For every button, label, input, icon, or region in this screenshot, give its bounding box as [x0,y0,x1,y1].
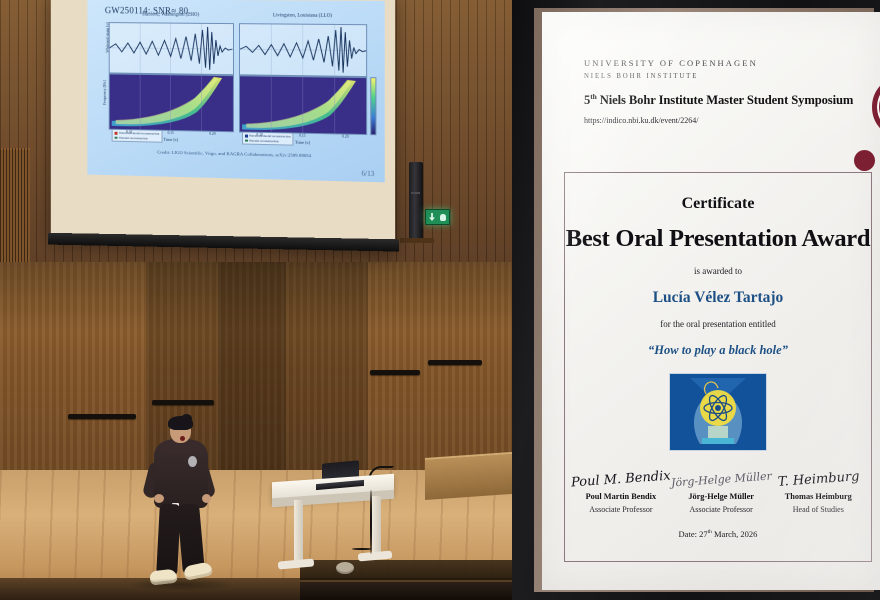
date-rest: March, 2026 [712,529,758,539]
symposium-logo [669,373,767,451]
stage-riser [425,452,512,500]
slide-credit: Credit: LIGO Scientific, Virgo, and KAGR… [87,148,384,160]
front-row-seating [300,560,512,580]
award-title: Best Oral Presentation Award [565,225,871,253]
slide-page-number: 6/13 [362,170,375,178]
projected-slide: GW250114: SNR≈ 80. Hanford, Washington (… [87,0,384,182]
presenter-hand-left [154,494,164,503]
signature-mark: Jörg-Helge Müller [670,466,772,495]
door-push-bar [428,360,482,365]
recipient-name: Lucía Vélez Tartajo [565,289,871,307]
signatory-name: Thomas Heimburg [772,492,865,501]
presenter [140,418,220,593]
power-cable-floor [352,548,372,550]
signatory-role: Associate Professor [571,505,671,514]
picture-frame: UNIVERSITY OF COPENHAGEN NIELS BOHR INST… [512,0,880,600]
detector-panel-llo: Livingston, Louisiana (LLO) LIGO [238,22,367,149]
acoustic-slat-panel-2 [0,150,30,265]
spectrogram-colorbar [370,77,376,135]
presentation-title: “How to play a black hole” [565,343,871,358]
certificate-heading: Certificate [565,195,871,213]
signature-mark: T. Heimburg [771,466,866,494]
signatory-role: Associate Professor [671,505,772,514]
date-prefix: Date: 27 [679,529,708,539]
panel-title: Hanford, Washington (LHO) [109,12,234,18]
signatory-2: Jörg-Helge Müller Jörg-Helge Müller Asso… [671,469,772,514]
wall-speaker [409,162,423,240]
presentation-label: for the oral presentation entitled [565,319,871,329]
door-push-bar [152,400,214,405]
certificate-date: Date: 27th March, 2026 [565,529,871,539]
presenter-logo-badge [188,456,197,467]
signature-mark: Poul M. Bendix [570,466,671,495]
slide-figure: Hanford, Washington (LHO) Whitened strai… [109,21,367,149]
projection-screen: GW250114: SNR≈ 80. Hanford, Washington (… [51,0,395,250]
symposium-title-rest: Niels Bohr Institute Master Student Symp… [597,93,854,107]
panel-xlabel: Time [s] [238,138,367,146]
screenshot-root: GW250114: SNR≈ 80. Hanford, Washington (… [0,0,880,600]
wall-shelf [400,238,434,243]
signatory-role: Head of Studies [772,505,865,514]
table-leg-right [372,496,381,556]
presenter-hair-bun [181,414,192,423]
wall-shadow [0,262,512,332]
awarded-to-label: is awarded to [565,266,871,276]
certificate-document: UNIVERSITY OF COPENHAGEN NIELS BOHR INST… [542,12,880,590]
university-seal-icon [872,75,880,139]
waveform-plot [238,23,367,77]
spectrogram-plot [109,73,234,132]
audience-seating [300,582,512,600]
spectrogram-plot [238,75,367,135]
power-cable [370,490,372,554]
signature-row: Poul M. Bendix Poul Martin Bendix Associ… [571,469,865,514]
door-push-bar [370,370,420,375]
floor-power-outlet [336,562,354,574]
waveform-plot [109,22,234,75]
door-push-bar [68,414,136,419]
emergency-exit-icon [425,209,450,225]
auditorium-photo: GW250114: SNR≈ 80. Hanford, Washington (… [0,0,512,600]
panel-ylabel-spec: Frequency [Hz] [102,80,107,105]
event-url[interactable]: https://indico.nbi.ku.dk/event/2264/ [584,116,698,125]
presenter-hand-right [202,494,211,503]
signatory-3: T. Heimburg Thomas Heimburg Head of Stud… [772,469,865,514]
table-leg-left [294,500,303,564]
panel-title: Livingston, Louisiana (LLO) [238,13,367,19]
presenter-shadow [126,578,236,591]
institute-name: NIELS BOHR INSTITUTE [584,73,698,80]
signatory-1: Poul M. Bendix Poul Martin Bendix Associ… [571,469,671,514]
detector-panel-lho: Hanford, Washington (LHO) Whitened strai… [109,21,234,146]
panel-xlabel: Time [s] [109,136,234,144]
decorative-dot-large [854,150,875,171]
university-name: UNIVERSITY OF COPENHAGEN [584,58,758,68]
presenter-microphone [180,436,185,441]
certificate-border: Certificate Best Oral Presentation Award… [564,172,872,562]
symposium-title: 5th Niels Bohr Institute Master Student … [584,92,853,108]
